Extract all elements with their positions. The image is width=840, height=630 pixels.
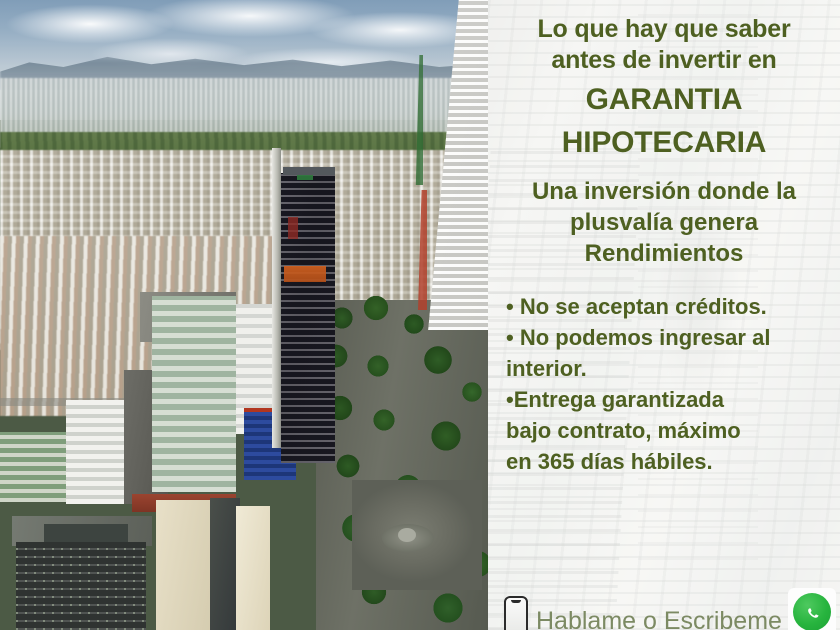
list-item: • No podemos ingresar al	[506, 322, 828, 353]
building-white-low	[66, 400, 132, 504]
contact-label: Hablame o Escribeme	[536, 607, 782, 630]
list-item: bajo contrato, máximo	[506, 415, 828, 446]
tower-crown	[283, 167, 335, 175]
building-side-cream	[236, 506, 270, 630]
text-panel: Lo que hay que saber antes de invertir e…	[488, 0, 840, 630]
tower-orange-band	[284, 266, 326, 282]
tower-green-accent	[297, 175, 313, 180]
headline-line-2: antes de invertir en	[500, 45, 828, 76]
subheadline-line-3: Rendimientos	[500, 238, 828, 269]
phone-handset-glyph	[802, 602, 822, 622]
panel-content: Lo que hay que saber antes de invertir e…	[488, 0, 840, 630]
city-aerial-photo	[0, 0, 488, 630]
tower-red-accent	[288, 217, 298, 239]
headline-line-4: HIPOTECARIA	[500, 123, 828, 162]
whatsapp-button[interactable]	[788, 588, 836, 630]
whatsapp-icon[interactable]	[793, 593, 831, 630]
fountain-center	[398, 528, 416, 542]
bullet-list: • No se aceptan créditos. • No podemos i…	[500, 291, 828, 477]
promotional-poster: Lo que hay que saber antes de invertir e…	[0, 0, 840, 630]
subheadline-line-2: plusvalía genera	[500, 207, 828, 238]
list-item: •Entrega garantizada	[506, 384, 828, 415]
subheadline-line-1: Una inversión donde la	[500, 176, 828, 207]
building-dark-grid	[16, 542, 146, 630]
subheadline: Una inversión donde la plusvalía genera …	[500, 176, 828, 269]
list-item: interior.	[506, 353, 828, 384]
rooftop-dark	[44, 524, 128, 542]
list-item: en 365 días hábiles.	[506, 446, 828, 477]
headline-line-3: GARANTIA	[500, 80, 828, 119]
contact-bar: Hablame o Escribeme	[488, 584, 840, 630]
headline-line-1: Lo que hay que saber	[500, 14, 828, 45]
page-title: Lo que hay que saber antes de invertir e…	[500, 14, 828, 162]
smartphone-icon	[504, 596, 528, 630]
tower-spine	[272, 148, 281, 448]
building-glass-tower	[152, 296, 236, 492]
list-item: • No se aceptan créditos.	[506, 291, 828, 322]
